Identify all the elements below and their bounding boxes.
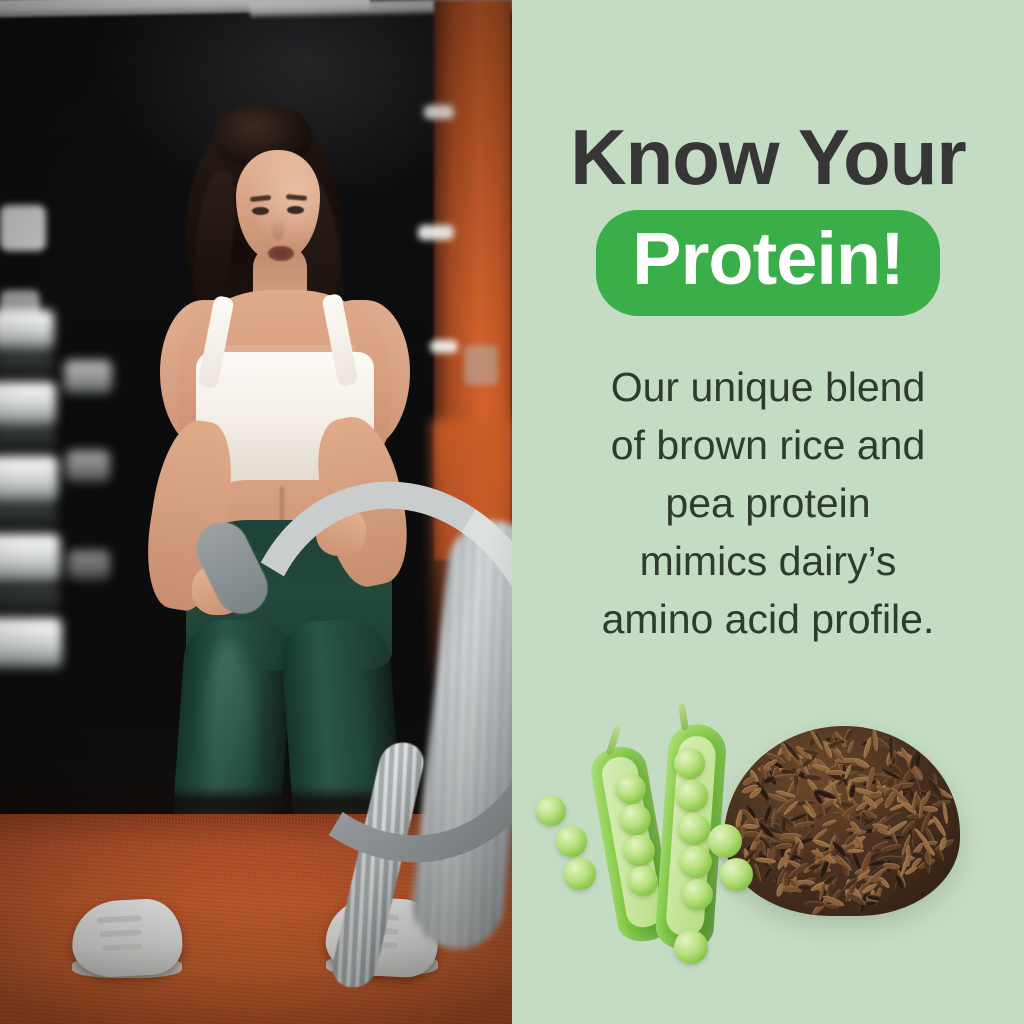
body-line: Our unique blend bbox=[558, 358, 978, 416]
pea bbox=[678, 813, 710, 845]
ad-canvas: Know Your Protein! Our unique blend of b… bbox=[0, 0, 1024, 1024]
body-line: pea protein bbox=[558, 474, 978, 532]
loose-pea bbox=[556, 826, 587, 857]
hero-photo bbox=[0, 0, 512, 1024]
food-illustration bbox=[538, 690, 998, 990]
rice-grain bbox=[846, 740, 855, 754]
rice-grain bbox=[843, 727, 854, 741]
mouth bbox=[268, 246, 294, 261]
loose-pea-bottom bbox=[674, 930, 708, 964]
eye bbox=[287, 206, 304, 214]
rice-grain bbox=[813, 827, 829, 841]
rice-grain bbox=[847, 849, 864, 854]
pea bbox=[624, 835, 655, 866]
nose bbox=[272, 218, 284, 240]
pea-pod-stem bbox=[678, 704, 689, 731]
pea bbox=[680, 846, 712, 878]
rice-grain bbox=[780, 836, 794, 842]
face-highlight bbox=[236, 150, 320, 260]
rice-grain bbox=[938, 836, 948, 851]
rice-grain bbox=[889, 735, 894, 759]
body-line: of brown rice and bbox=[558, 416, 978, 474]
rice-grain bbox=[762, 866, 772, 880]
rice-grain bbox=[821, 819, 837, 829]
loose-pea bbox=[708, 824, 742, 858]
eye bbox=[252, 207, 269, 215]
pea bbox=[674, 748, 705, 779]
content-panel: Know Your Protein! Our unique blend of b… bbox=[512, 0, 1024, 1024]
rice-grain bbox=[941, 802, 948, 825]
body-line: mimics dairy’s bbox=[558, 532, 978, 590]
pea bbox=[628, 866, 658, 896]
pea bbox=[676, 780, 708, 812]
pea bbox=[620, 804, 651, 835]
pea bbox=[682, 879, 713, 910]
brown-rice-pile bbox=[724, 726, 960, 916]
pea bbox=[616, 774, 646, 804]
loose-pea bbox=[564, 858, 596, 890]
protein-badge: Protein! bbox=[596, 210, 940, 316]
body-line: amino acid profile. bbox=[558, 590, 978, 648]
headline-line-1: Know Your bbox=[512, 118, 1024, 196]
rice-grain bbox=[798, 884, 812, 890]
loose-pea bbox=[536, 796, 566, 826]
rice-grain bbox=[804, 901, 825, 907]
loose-pea bbox=[720, 858, 753, 891]
rice-grain bbox=[753, 863, 763, 882]
headline-block: Know Your Protein! bbox=[512, 118, 1024, 316]
body-copy: Our unique blend of brown rice and pea p… bbox=[558, 358, 978, 648]
